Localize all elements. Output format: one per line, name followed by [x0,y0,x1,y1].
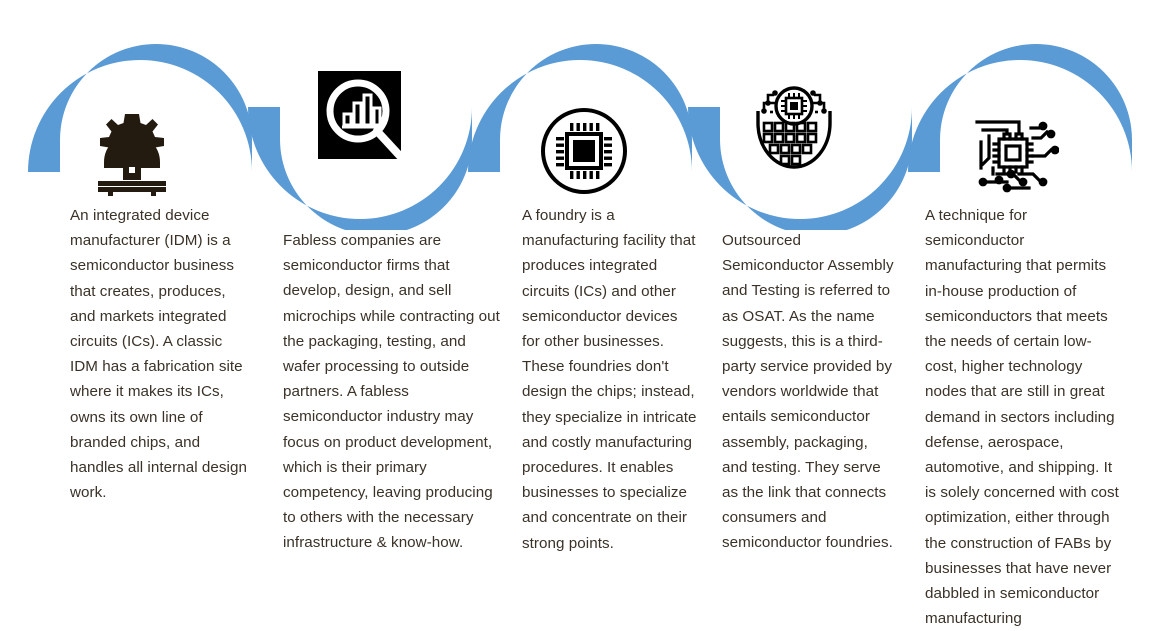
stage-description-osat: Outsourced Semiconductor Assembly and Te… [722,228,897,556]
stage-fab-lite: A technique for semiconductor manufactur… [900,0,1160,541]
infographic-canvas: An integrated device manufacturer (IDM) … [0,0,1160,541]
stage-osat: Outsourced Semiconductor Assembly and Te… [700,0,930,541]
chip-grid-network-icon [744,81,844,173]
gear-machine-icon [82,112,182,196]
stage-description-fabless: Fabless companies are semiconductor firm… [283,228,501,556]
chip-in-circle-icon [539,106,629,196]
stage-description-fab-lite: A technique for semiconductor manufactur… [925,203,1120,631]
magnifier-bar-chart-icon [318,71,406,163]
stage-description-foundry: A foundry is a manufacturing facility th… [522,203,697,556]
stage-foundry: A foundry is a manufacturing facility th… [500,0,725,541]
stage-description-idm: An integrated device manufacturer (IDM) … [70,203,250,505]
stage-idm: An integrated device manufacturer (IDM) … [0,0,250,541]
circuit-chip-traces-icon [967,112,1059,196]
stage-fabless: Fabless companies are semiconductor firm… [250,0,500,541]
